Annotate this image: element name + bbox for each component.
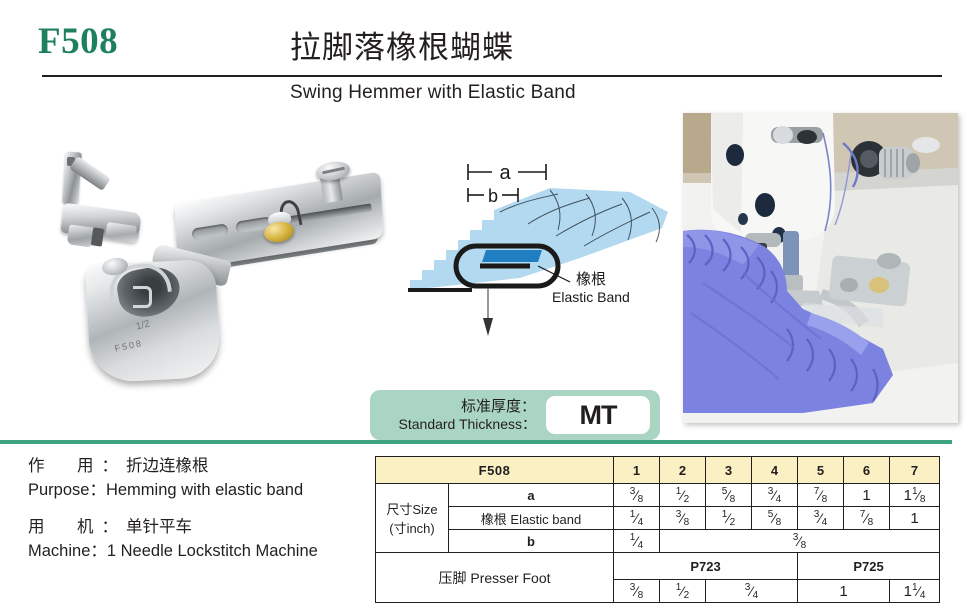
presser-foot-size-cell: 1⁄2 — [660, 580, 706, 603]
table-column-header-6: 6 — [844, 457, 890, 484]
diagram-svg: a b 橡根 Elastic Band — [400, 150, 680, 350]
section-divider — [0, 440, 952, 444]
specification-table-body: F5081234567尺寸Size (寸inch)a3⁄81⁄25⁄83⁄47⁄… — [376, 457, 940, 603]
table-cell: 3⁄4 — [752, 484, 798, 507]
feed-direction-arrow-head — [483, 318, 493, 336]
standard-thickness-labels: 标准厚度： Standard Thickness： — [386, 398, 536, 431]
table-cell: 1⁄4 — [614, 507, 660, 530]
machine-bracket-knob — [773, 126, 793, 144]
machine-screw-hole-1 — [726, 144, 744, 166]
table-row-label: b — [449, 530, 614, 553]
machine-line-en: Machine：1 Needle Lockstitch Machine — [28, 540, 368, 564]
folder-scoop-hook — [133, 286, 152, 308]
sewing-machine-photo — [683, 113, 958, 423]
purpose-line-cn: 作 用：折边连橡根 — [28, 455, 368, 479]
standard-thickness-label-en: Standard Thickness： — [386, 416, 536, 432]
machine-value-cn: 单针平车 — [126, 518, 192, 536]
standard-thickness-badge: 标准厚度： Standard Thickness： MT — [370, 390, 660, 440]
machine-bracket-dark — [797, 130, 817, 144]
specification-text: 作 用：折边连橡根 Purpose：Hemming with elastic b… — [28, 455, 368, 577]
table-cell: 3⁄8 — [660, 530, 940, 553]
purpose-line-en: Purpose：Hemming with elastic band — [28, 479, 368, 503]
presser-foot-size-cell: 11⁄4 — [890, 580, 940, 603]
table-cell: 3⁄4 — [798, 507, 844, 530]
header-divider-rule — [42, 75, 942, 77]
machine-key-cn: 用 机： — [28, 518, 126, 536]
table-row: b1⁄43⁄8 — [376, 530, 940, 553]
product-title-english: Swing Hemmer with Elastic Band — [290, 82, 576, 104]
table-cell: 5⁄8 — [752, 507, 798, 530]
purpose-value-cn: 折边连橡根 — [126, 457, 209, 475]
machine-block: 用 机：单针平车 Machine：1 Needle Lockstitch Mac… — [28, 516, 368, 564]
dimension-a-label: a — [499, 162, 511, 184]
elastic-band-strip — [482, 250, 542, 262]
hem-cross-section-diagram: a b 橡根 Elastic Band — [400, 150, 680, 350]
table-cell: 7⁄8 — [798, 484, 844, 507]
machine-screw-hole-3 — [738, 213, 748, 225]
thread-tension-disc-inner — [860, 150, 878, 168]
table-cell: 1⁄2 — [660, 484, 706, 507]
presser-foot-label: 压脚 Presser Foot — [376, 553, 614, 603]
machine-key-en: Machine： — [28, 542, 107, 560]
purpose-key-en: Purpose： — [28, 481, 106, 499]
machine-photo-svg — [683, 113, 958, 423]
presser-foot-toe-right — [105, 222, 137, 243]
presser-foot-size-cell: 1 — [798, 580, 890, 603]
folder-attachment-screw-2 — [840, 278, 858, 292]
table-size-label: 尺寸Size (寸inch) — [376, 484, 449, 553]
elastic-band-callout-cn: 橡根 — [576, 271, 606, 288]
purpose-key-cn: 作 用： — [28, 457, 126, 475]
table-cell: 1⁄2 — [706, 507, 752, 530]
tension-knob-end — [906, 153, 920, 173]
table-row: 橡根 Elastic band1⁄43⁄81⁄25⁄83⁄47⁄81 — [376, 507, 940, 530]
table-row-label: a — [449, 484, 614, 507]
page-title: F508 — [38, 20, 118, 63]
table-cell: 3⁄8 — [614, 484, 660, 507]
machine-line-cn: 用 机：单针平车 — [28, 516, 368, 540]
specification-table: F5081234567尺寸Size (寸inch)a3⁄81⁄25⁄83⁄47⁄… — [375, 456, 940, 603]
needle-bar — [783, 231, 799, 281]
table-cell: 1⁄4 — [614, 530, 660, 553]
presser-foot-model-P723: P723 — [614, 553, 798, 580]
product-title-chinese: 拉脚落橡根蝴蝶 — [290, 22, 514, 67]
table-model-header: F508 — [376, 457, 614, 484]
standard-thickness-value: MT — [580, 400, 617, 431]
folder-attachment-screw-1 — [877, 253, 901, 269]
table-cell: 3⁄8 — [660, 507, 706, 530]
product-attachment-photo: 1/2 F508 — [40, 140, 400, 395]
table-cell: 5⁄8 — [706, 484, 752, 507]
table-cell: 7⁄8 — [844, 507, 890, 530]
table-column-header-7: 7 — [890, 457, 940, 484]
elastic-band-callout-en: Elastic Band — [552, 289, 630, 305]
dimension-b-label: b — [488, 186, 498, 206]
machine-pulley — [912, 137, 940, 153]
presser-foot-needle-slot — [91, 227, 104, 246]
table-header-row: F5081234567 — [376, 457, 940, 484]
presser-foot-size-cell: 3⁄8 — [614, 580, 660, 603]
table-column-header-3: 3 — [706, 457, 752, 484]
table-cell: 1 — [844, 484, 890, 507]
presser-foot-model-P725: P725 — [798, 553, 940, 580]
standard-thickness-label-cn: 标准厚度： — [386, 398, 536, 415]
folder-attachment-brass — [869, 277, 889, 293]
table-column-header-2: 2 — [660, 457, 706, 484]
table-cell: 11⁄8 — [890, 484, 940, 507]
machine-screw-hole-2 — [755, 193, 775, 217]
table-column-header-4: 4 — [752, 457, 798, 484]
standard-thickness-pill: MT — [546, 396, 650, 434]
table-column-header-1: 1 — [614, 457, 660, 484]
table-row: 尺寸Size (寸inch)a3⁄81⁄25⁄83⁄47⁄8111⁄8 — [376, 484, 940, 507]
machine-value-en: 1 Needle Lockstitch Machine — [107, 542, 318, 560]
fabric-body — [410, 188, 668, 290]
table-row-label: 橡根 Elastic band — [449, 507, 614, 530]
purpose-block: 作 用：折边连橡根 Purpose：Hemming with elastic b… — [28, 455, 368, 503]
table-column-header-5: 5 — [798, 457, 844, 484]
purpose-value-en: Hemming with elastic band — [106, 481, 303, 499]
page-header: F508 拉脚落橡根蝴蝶 Swing Hemmer with Elastic B… — [0, 0, 980, 110]
presser-foot-size-cell: 3⁄4 — [706, 580, 798, 603]
table-cell: 1 — [890, 507, 940, 530]
presser-foot-model-row: 压脚 Presser FootP723P725 — [376, 553, 940, 580]
